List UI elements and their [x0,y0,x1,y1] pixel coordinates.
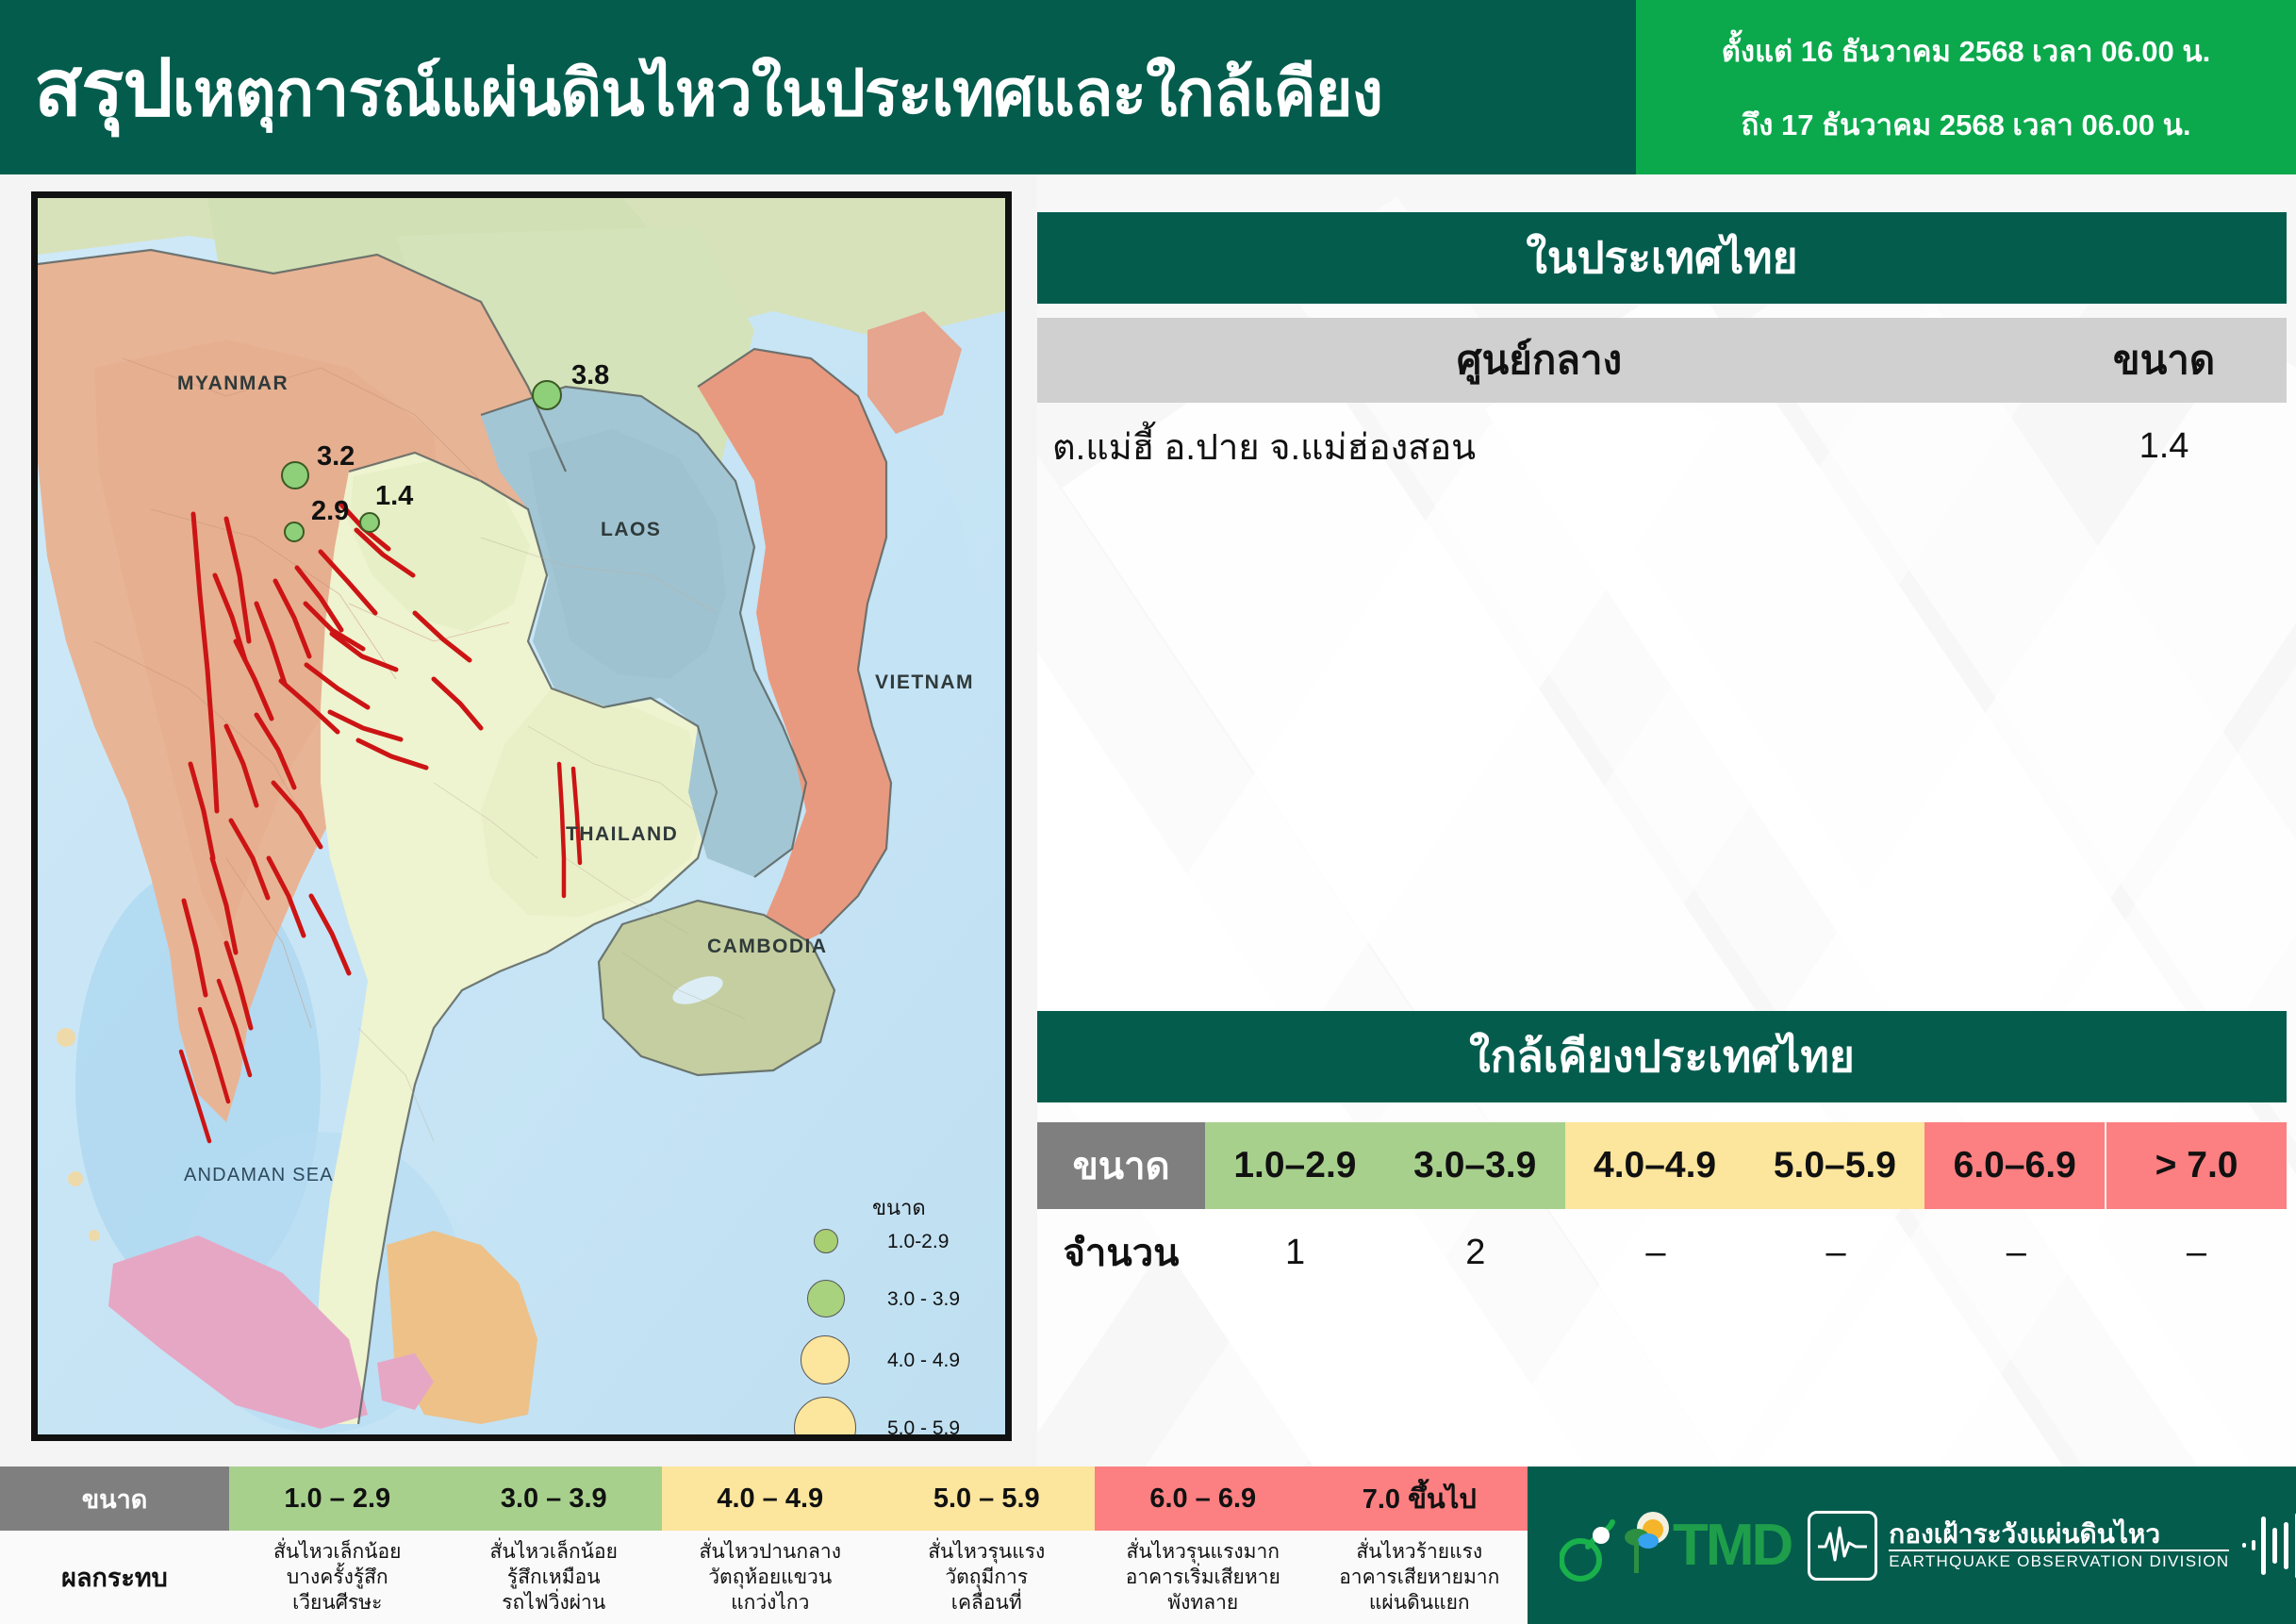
legend-effect-2-line-1: สั่นไหวเล็กน้อย [490,1539,618,1565]
quake-label-3-2: 3.2 [317,441,355,472]
eod-text-block: กองเฝ้าระวังแผ่นดินไหว EARTHQUAKE OBSERV… [1889,1521,2229,1569]
row-label-count: จำนวน [1037,1209,1205,1296]
count-5-0-5-9: – [1746,1209,1926,1296]
column-header-magnitude: ขนาด [2041,329,2287,391]
quake-marker-3-8[interactable] [532,380,562,410]
legend-range-6: 7.0 ขึ้นไป [1312,1467,1528,1531]
legend-effect-4-line-2: วัตถุมีการ [945,1565,1028,1590]
date-from: ตั้งแต่ 16 ธันวาคม 2568 เวลา 06.00 น. [1722,27,2210,75]
count-3-0-3-9: 2 [1385,1209,1565,1296]
tmd-logo: TMD [1560,1507,1791,1584]
legend-effect-5: สั่นไหวรุนแรงมาก อาคารเริ่มเสียหาย พังทล… [1095,1531,1312,1624]
date-to: ถึง 17 ธันวาคม 2568 เวลา 06.00 น. [1742,101,2191,148]
earthquake-map[interactable]: MYANMAR LAOS THAILAND VIETNAM CAMBODIA A… [31,191,1012,1441]
quake-label-2-9: 2.9 [311,496,349,527]
count-1-0-2-9: 1 [1205,1209,1385,1296]
infographic-page: สรุปเหตุการณ์แผ่นดินไหวในประเทศและใกล้เค… [0,0,2296,1624]
map-label-laos: LAOS [601,519,661,541]
map-label-cambodia: CAMBODIA [707,936,828,958]
legend-effect-1-line-1: สั่นไหวเล็กน้อย [273,1539,401,1565]
legend-effect-6-line-1: สั่นไหวร้ายแรง [1356,1539,1482,1565]
tree-cloud-sun-icon [1622,1509,1669,1583]
legend-effect-5-line-2: อาคารเริ่มเสียหาย [1126,1565,1280,1590]
legend-label-effect: ผลกระทบ [0,1531,229,1624]
eod-logo: กองเฝ้าระวังแผ่นดินไหว EARTHQUAKE OBSERV… [1808,1509,2296,1583]
legend-range-2: 3.0 – 3.9 [446,1467,663,1531]
cell-epicenter: ต.แม่ฮี้ อ.ปาย จ.แม่ฮ่องสอน [1037,418,2041,475]
row-label-magnitude: ขนาด [1037,1122,1205,1209]
near-thailand-count-row: จำนวน 1 2 – – – – [1037,1209,2287,1296]
quake-marker-1-4[interactable] [359,512,380,533]
seismic-wave-icon [1816,1524,1869,1567]
legend-effect-6-line-2: อาคารเสียหายมาก [1339,1565,1499,1590]
page-header: สรุปเหตุการณ์แผ่นดินไหวในประเทศและใกล้เค… [0,0,2296,174]
legend-table: ขนาด 1.0 – 2.9 3.0 – 3.9 4.0 – 4.9 5.0 –… [0,1467,1528,1624]
legend-effect-3-line-3: แกว่งไกว [731,1590,809,1616]
legend-effect-1-line-2: บางครั้งรู้สึก [287,1565,388,1590]
map-legend-label-1: 1.0-2.9 [887,1231,949,1253]
legend-effect-4-line-1: สั่นไหวรุนแรง [928,1539,1045,1565]
legend-effect-6: สั่นไหวร้ายแรง อาคารเสียหายมาก แผ่นดินแย… [1312,1531,1528,1624]
quake-label-1-4: 1.4 [375,481,413,512]
near-thailand-title: ใกล้เคียงประเทศไทย [1037,1011,2287,1102]
map-label-andaman-sea: ANDAMAN SEA [184,1165,334,1186]
legend-effect-1: สั่นไหวเล็กน้อย บางครั้งรู้สึก เวียนศีรษ… [229,1531,446,1624]
tmd-wordmark: TMD [1673,1512,1791,1579]
count-over-7-0: – [2106,1209,2287,1296]
legend-effect-2-line-2: รู้สึกเหมือน [507,1565,601,1590]
legend-range-1: 1.0 – 2.9 [229,1467,446,1531]
map-legend-label-3: 4.0 - 4.9 [887,1350,960,1372]
legend-effect-2-line-3: รถไฟวิ่งผ่าน [502,1590,605,1616]
legend-effect-3-line-1: สั่นไหวปานกลาง [700,1539,841,1565]
legend-magnitude-row: ขนาด 1.0 – 2.9 3.0 – 3.9 4.0 – 4.9 5.0 –… [0,1467,1528,1531]
logo-bar: TMD กองเฝ้าระวังแผ่นดินไหว EARTHQUAKE OB… [1528,1467,2296,1624]
count-6-0-6-9: – [1926,1209,2106,1296]
count-4-0-4-9: – [1565,1209,1745,1296]
near-thailand-magnitude-row: ขนาด 1.0–2.9 3.0–3.9 4.0–4.9 5.0–5.9 6.0… [1037,1122,2287,1209]
legend-range-4: 5.0 – 5.9 [879,1467,1096,1531]
table-row[interactable]: ต.แม่ฮี้ อ.ปาย จ.แม่ฮ่องสอน 1.4 [1037,403,2287,489]
quake-marker-2-9[interactable] [284,522,305,542]
near-thailand-table: ขนาด 1.0–2.9 3.0–3.9 4.0–4.9 5.0–5.9 6.0… [1037,1122,2287,1296]
bin-3-0-3-9: 3.0–3.9 [1385,1122,1565,1209]
bin-4-0-4-9: 4.0–4.9 [1565,1122,1745,1209]
map-legend-label-4: 5.0 - 5.9 [887,1417,960,1440]
legend-effect-4: สั่นไหวรุนแรง วัตถุมีการ เคลื่อนที่ [879,1531,1096,1624]
bin-5-0-5-9: 5.0–5.9 [1744,1122,1924,1209]
legend-effect-4-line-3: เคลื่อนที่ [951,1590,1022,1616]
map-legend-title: ขนาด [872,1191,926,1224]
map-legend: ขนาด 1.0-2.9 3.0 - 3.9 4.0 - 4.9 5.0 - 5… [806,1195,985,1441]
waveform-bars-icon [2240,1509,2296,1583]
cell-magnitude: 1.4 [2041,426,2287,467]
header-title-bar: สรุปเหตุการณ์แผ่นดินไหวในประเทศและใกล้เค… [0,0,1636,174]
bin-6-0-6-9: 6.0–6.9 [1924,1122,2105,1209]
in-thailand-title: ในประเทศไทย [1037,212,2287,304]
in-thailand-table: ศูนย์กลาง ขนาด ต.แม่ฮี้ อ.ปาย จ.แม่ฮ่องส… [1037,318,2287,489]
header-date-range: ตั้งแต่ 16 ธันวาคม 2568 เวลา 06.00 น. ถึ… [1636,0,2296,174]
legend-range-5: 6.0 – 6.9 [1095,1467,1312,1531]
legend-effect-1-line-3: เวียนศีรษะ [292,1590,382,1616]
legend-effect-row: ผลกระทบ สั่นไหวเล็กน้อย บางครั้งรู้สึก เ… [0,1531,1528,1624]
bin-1-0-2-9: 1.0–2.9 [1205,1122,1385,1209]
seismograph-icon [1808,1511,1877,1581]
tmd-swirl-icon [1560,1507,1618,1584]
legend-effect-3-line-2: วัตถุห้อยแขวน [708,1565,832,1590]
magnitude-effect-legend: ขนาด 1.0 – 2.9 3.0 – 3.9 4.0 – 4.9 5.0 –… [0,1467,2296,1624]
page-title: สรุปเหตุการณ์แผ่นดินไหวในประเทศและใกล้เค… [0,48,1382,127]
map-label-vietnam: VIETNAM [875,671,974,694]
map-legend-dot-1 [814,1229,838,1253]
map-legend-dot-3 [801,1335,850,1384]
map-legend-dot-2 [807,1280,845,1317]
column-header-epicenter: ศูนย์กลาง [1037,329,2041,391]
page-title-strong: สรุป [34,43,173,132]
legend-effect-5-line-3: พังทลาย [1167,1590,1238,1616]
legend-label-magnitude: ขนาด [0,1467,229,1531]
legend-range-3: 4.0 – 4.9 [662,1467,879,1531]
page-title-rest: เหตุการณ์แผ่นดินไหวในประเทศและใกล้เคียง [173,58,1382,129]
legend-effect-2: สั่นไหวเล็กน้อย รู้สึกเหมือน รถไฟวิ่งผ่า… [446,1531,663,1624]
legend-effect-5-line-1: สั่นไหวรุนแรงมาก [1127,1539,1280,1565]
in-thailand-header-row: ศูนย์กลาง ขนาด [1037,318,2287,403]
map-legend-label-2: 3.0 - 3.9 [887,1288,960,1311]
quake-marker-3-2[interactable] [281,461,309,489]
map-label-myanmar: MYANMAR [177,373,289,395]
bin-over-7-0: > 7.0 [2105,1122,2287,1209]
eod-title-thai: กองเฝ้าระวังแผ่นดินไหว [1889,1521,2229,1548]
eod-divider [1889,1549,2229,1551]
map-label-thailand: THAILAND [566,823,678,846]
quake-label-3-8: 3.8 [571,360,609,391]
legend-effect-6-line-3: แผ่นดินแยก [1369,1590,1470,1616]
eod-title-english: EARTHQUAKE OBSERVATION DIVISION [1889,1553,2229,1569]
legend-effect-3: สั่นไหวปานกลาง วัตถุห้อยแขวน แกว่งไกว [662,1531,879,1624]
